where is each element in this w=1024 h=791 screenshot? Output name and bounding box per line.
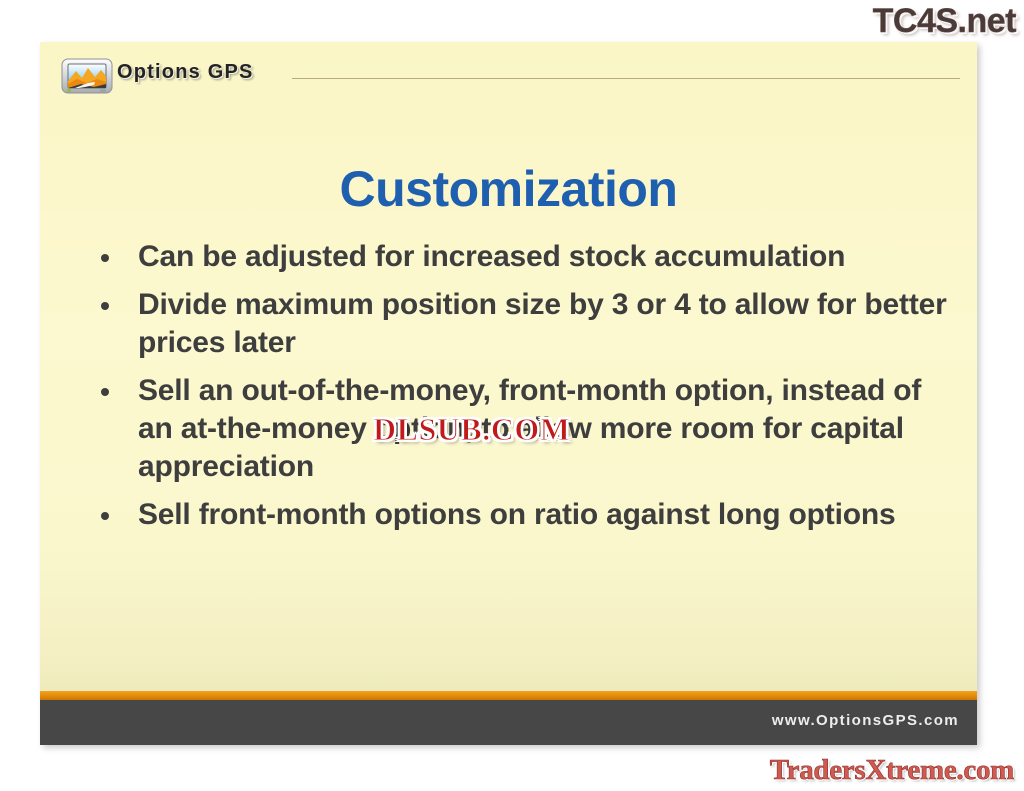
dlsub-watermark: DLSUB.COM	[373, 412, 570, 446]
footer-accent-bar	[40, 691, 977, 700]
slide-title: Customization	[40, 160, 977, 218]
bullet-text: Divide maximum position size by 3 or 4 t…	[138, 288, 947, 359]
bullet-item: Can be adjusted for increased stock accu…	[92, 238, 957, 276]
gps-device-icon	[61, 57, 113, 96]
site-brand-watermark: TC4S.net	[873, 2, 1016, 40]
bullet-text: Sell front-month options on ratio agains…	[138, 498, 895, 531]
options-gps-wordmark: Options GPS	[117, 61, 254, 84]
presentation-slide: Options GPS Customization Can be adjuste…	[40, 42, 977, 745]
bullet-dot-icon	[101, 254, 109, 262]
bullet-dot-icon	[101, 388, 109, 396]
bullet-text: Can be adjusted for increased stock accu…	[138, 240, 845, 273]
bullet-dot-icon	[101, 512, 109, 520]
bullet-dot-icon	[101, 302, 109, 310]
slide-bullet-list: Can be adjusted for increased stock accu…	[92, 238, 957, 544]
slide-header: Options GPS	[40, 42, 977, 100]
bullet-item: Sell front-month options on ratio agains…	[92, 496, 957, 534]
bullet-item: Divide maximum position size by 3 or 4 t…	[92, 286, 957, 362]
tradersxtreme-brand-watermark: TradersXtreme.com	[770, 753, 1014, 787]
slide-footer-bar: www.OptionsGPS.com	[40, 700, 977, 745]
footer-url: www.OptionsGPS.com	[772, 712, 959, 729]
header-divider-rule	[292, 78, 960, 79]
